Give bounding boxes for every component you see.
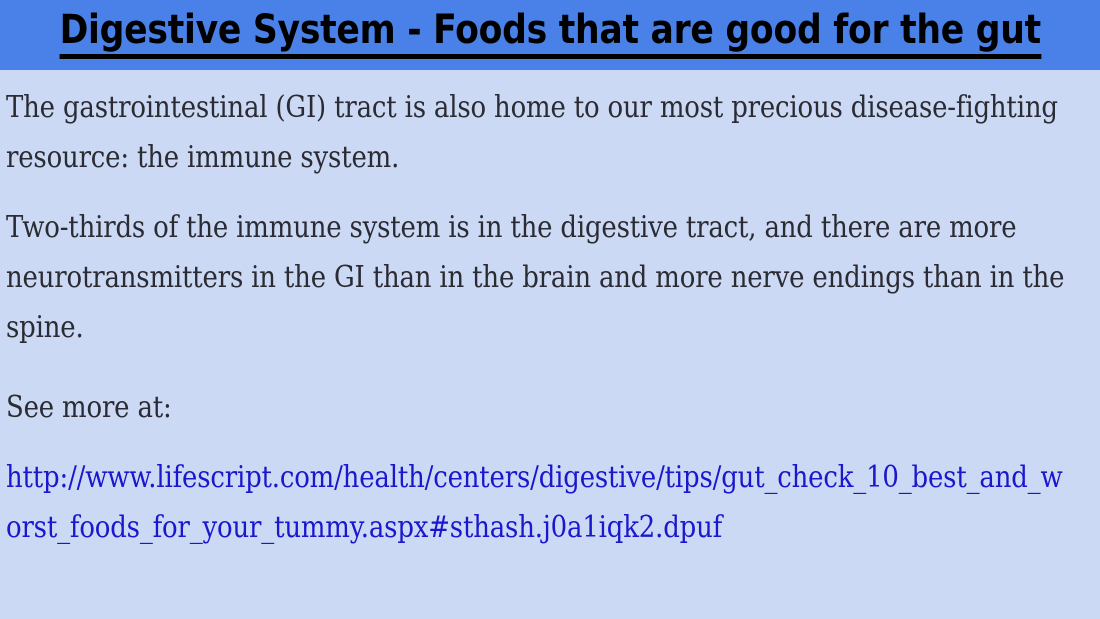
slide-body: The gastrointestinal (GI) tract is also … [0,70,1100,619]
slide-container: Digestive System - Foods that are good f… [0,0,1100,619]
paragraph-neurotransmitters: Two-thirds of the immune system is in th… [6,202,1076,352]
paragraph-immune-system: The gastrointestinal (GI) tract is also … [6,82,1076,182]
source-url-link[interactable]: http://www.lifescript.com/health/centers… [6,452,1076,552]
slide-title: Digestive System - Foods that are good f… [59,7,1040,59]
see-more-label: See more at: [6,382,1076,432]
slide-title-bar: Digestive System - Foods that are good f… [0,0,1100,70]
